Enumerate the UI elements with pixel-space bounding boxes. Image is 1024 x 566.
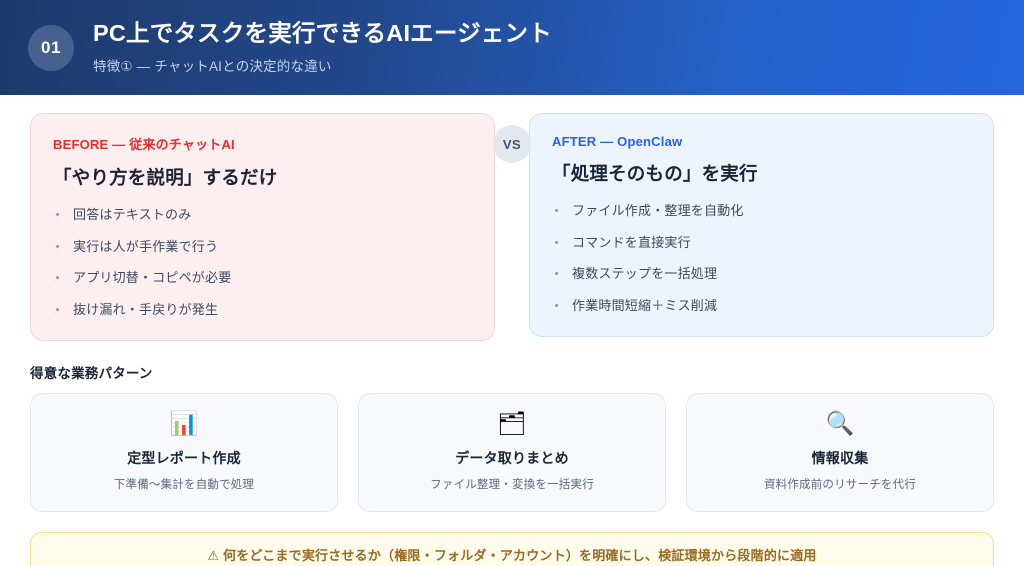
- page-subtitle: 特徴① — チャットAIとの決定的な違い: [93, 55, 552, 75]
- vs-label: VS: [503, 137, 521, 152]
- magnifier-icon: 🔍: [697, 412, 983, 435]
- after-kicker: AFTER — OpenClaw: [552, 134, 971, 149]
- after-headline: 「処理そのもの」を実行: [552, 160, 971, 186]
- list-item: コマンドを直接実行: [552, 234, 971, 252]
- pattern-title: 定型レポート作成: [41, 448, 327, 468]
- list-item: ファイル作成・整理を自動化: [552, 202, 971, 220]
- warning-banner: ⚠ 何をどこまで実行させるか（権限・フォルダ・アカウント）を明確にし、検証環境か…: [30, 532, 994, 566]
- patterns-row: 📊 定型レポート作成 下準備〜集計を自動で処理 🗂 データ取りまとめ ファイル整…: [30, 393, 994, 512]
- pattern-card-research: 🔍 情報収集 資料作成前のリサーチを代行: [686, 393, 994, 512]
- vs-badge: VS: [493, 125, 531, 163]
- slide-number-label: 01: [41, 38, 61, 58]
- bar-chart-icon: 📊: [41, 412, 327, 435]
- slide-header: 01 PC上でタスクを実行できるAIエージェント 特徴① — チャットAIとの決…: [0, 0, 1024, 95]
- pattern-desc: 下準備〜集計を自動で処理: [41, 476, 327, 492]
- pattern-desc: ファイル整理・変換を一括実行: [369, 476, 655, 492]
- list-item: 作業時間短縮＋ミス削減: [552, 297, 971, 315]
- slide-number-badge: 01: [28, 25, 74, 71]
- pattern-title: 情報収集: [697, 448, 983, 468]
- list-item: 実行は人が手作業で行う: [53, 238, 472, 256]
- before-headline: 「やり方を説明」するだけ: [53, 164, 472, 190]
- list-item: 回答はテキストのみ: [53, 206, 472, 224]
- slide-body: BEFORE — 従来のチャットAI 「やり方を説明」するだけ 回答はテキストの…: [0, 113, 1024, 566]
- pattern-card-report: 📊 定型レポート作成 下準備〜集計を自動で処理: [30, 393, 338, 512]
- pattern-title: データ取りまとめ: [369, 448, 655, 468]
- list-item: アプリ切替・コピペが必要: [53, 269, 472, 287]
- patterns-section-title: 得意な業務パターン: [30, 362, 994, 382]
- folder-icon: 🗂: [369, 412, 655, 435]
- after-card: AFTER — OpenClaw 「処理そのもの」を実行 ファイル作成・整理を自…: [529, 113, 994, 337]
- before-kicker: BEFORE — 従来のチャットAI: [53, 134, 472, 153]
- before-list: 回答はテキストのみ 実行は人が手作業で行う アプリ切替・コピペが必要 抜け漏れ・…: [53, 206, 472, 318]
- page-title: PC上でタスクを実行できるAIエージェント: [93, 20, 552, 47]
- header-text-group: PC上でタスクを実行できるAIエージェント 特徴① — チャットAIとの決定的な…: [93, 20, 552, 74]
- pattern-desc: 資料作成前のリサーチを代行: [697, 476, 983, 492]
- list-item: 複数ステップを一括処理: [552, 265, 971, 283]
- after-list: ファイル作成・整理を自動化 コマンドを直接実行 複数ステップを一括処理 作業時間…: [552, 202, 971, 314]
- before-card: BEFORE — 従来のチャットAI 「やり方を説明」するだけ 回答はテキストの…: [30, 113, 495, 341]
- pattern-card-data: 🗂 データ取りまとめ ファイル整理・変換を一括実行: [358, 393, 666, 512]
- warning-text: ⚠ 何をどこまで実行させるか（権限・フォルダ・アカウント）を明確にし、検証環境か…: [207, 545, 816, 564]
- comparison-row: BEFORE — 従来のチャットAI 「やり方を説明」するだけ 回答はテキストの…: [30, 113, 994, 341]
- list-item: 抜け漏れ・手戻りが発生: [53, 301, 472, 319]
